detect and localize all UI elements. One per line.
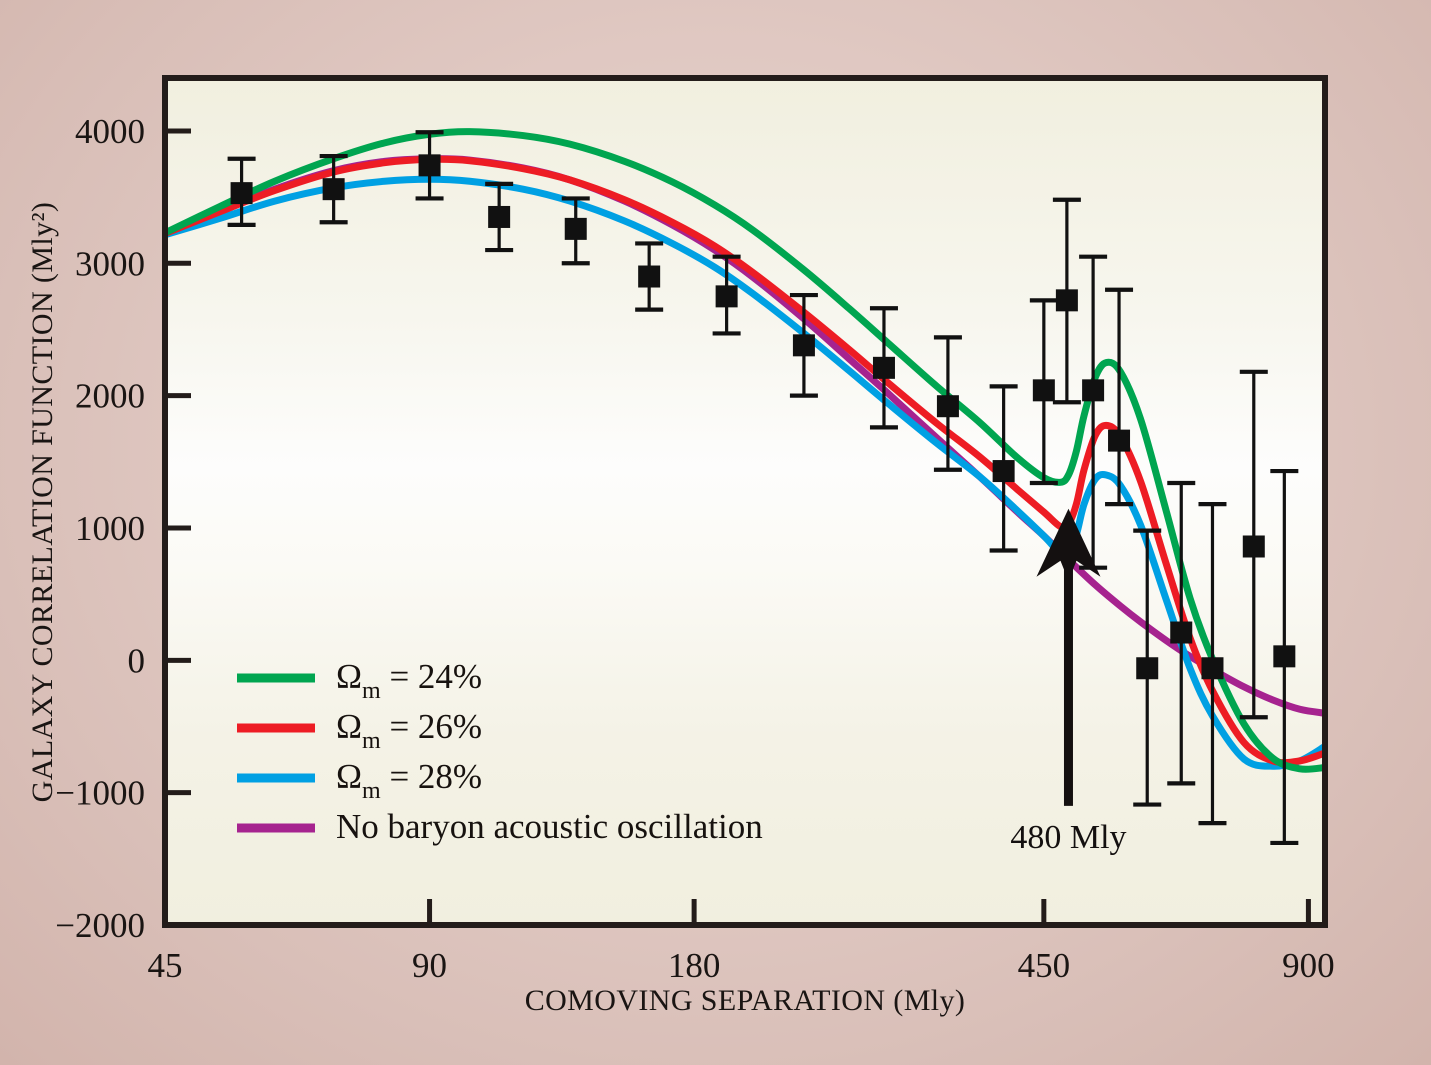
x-tick-label: 900 xyxy=(1282,946,1335,985)
x-tick-label: 450 xyxy=(1018,946,1071,985)
y-tick-label: 3000 xyxy=(75,244,145,283)
legend-label-4: No baryon acoustic oscillation xyxy=(336,807,763,846)
data-point-marker xyxy=(993,460,1015,482)
y-tick-label: 4000 xyxy=(75,112,145,151)
data-point-marker xyxy=(419,154,441,176)
data-point-marker xyxy=(565,218,587,240)
annotation-label: 480 Mly xyxy=(1010,819,1126,856)
x-tick-label: 90 xyxy=(412,946,447,985)
data-point-marker xyxy=(937,395,959,417)
data-point-marker xyxy=(638,266,660,288)
data-point-marker xyxy=(1108,430,1130,452)
y-tick-label: −1000 xyxy=(55,774,145,813)
data-point-marker xyxy=(1201,657,1223,679)
x-tick-label: 45 xyxy=(148,946,183,985)
data-point-marker xyxy=(1243,535,1265,557)
data-point-marker xyxy=(1082,379,1104,401)
data-point-marker xyxy=(1136,657,1158,679)
y-tick-label: −2000 xyxy=(55,906,145,945)
y-tick-label: 2000 xyxy=(75,377,145,416)
data-point-marker xyxy=(873,357,895,379)
data-point-marker xyxy=(1273,645,1295,667)
data-point-marker xyxy=(793,334,815,356)
y-tick-label: 0 xyxy=(128,641,146,680)
data-point-marker xyxy=(1056,289,1078,311)
data-point-marker xyxy=(716,285,738,307)
data-point-marker xyxy=(1170,622,1192,644)
x-axis-title: COMOVING SEPARATION (Mly) xyxy=(525,984,966,1017)
figure-container: 480 Mly 40003000200010000−1000−200045901… xyxy=(0,0,1431,1065)
x-tick-label: 180 xyxy=(668,946,721,985)
y-axis-title: GALAXY CORRELATION FUNCTION (Mly²) xyxy=(26,202,59,803)
y-tick-label: 1000 xyxy=(75,509,145,548)
data-point-marker xyxy=(1033,379,1055,401)
data-point-marker xyxy=(231,182,253,204)
data-point-marker xyxy=(323,178,345,200)
data-point-marker xyxy=(488,206,510,228)
plot-area-background xyxy=(165,78,1325,925)
galaxy-correlation-chart: 480 Mly 40003000200010000−1000−200045901… xyxy=(0,0,1431,1065)
